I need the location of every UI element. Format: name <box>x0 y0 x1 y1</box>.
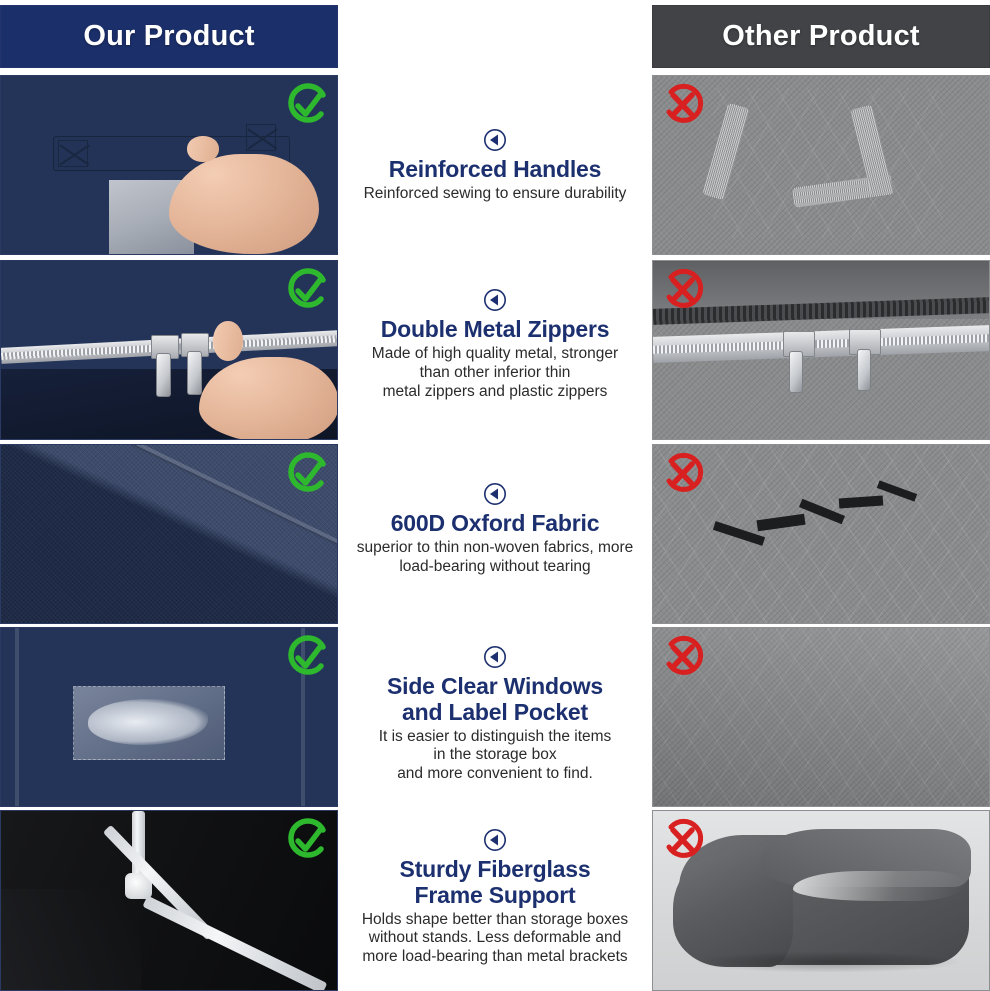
green-circle-check-icon <box>285 817 331 863</box>
feature-block-4: Side Clear Windows and Label Pocket It i… <box>345 645 645 784</box>
feature-title: Side Clear Windows and Label Pocket <box>345 674 645 726</box>
ours-image-window-pocket <box>0 627 338 807</box>
feature-title: Double Metal Zippers <box>345 317 645 343</box>
pocket-reflection <box>88 699 208 745</box>
no-badge <box>659 451 705 497</box>
no-badge <box>659 817 705 863</box>
no-badge <box>659 634 705 680</box>
feature-desc-line: more load-bearing than metal brackets <box>345 948 645 967</box>
other-image-handles <box>652 75 990 255</box>
circle-left-triangle-icon <box>483 828 507 852</box>
circle-left-triangle-icon <box>483 645 507 669</box>
circle-left-triangle-icon <box>483 288 507 312</box>
other-image-collapsed-bag <box>652 810 990 991</box>
ok-badge <box>285 817 331 863</box>
feature-title-line: and Label Pocket <box>402 699 588 725</box>
green-circle-check-icon <box>285 451 331 497</box>
ok-badge <box>285 82 331 128</box>
green-circle-check-icon <box>285 267 331 313</box>
drop-shadow <box>693 951 963 973</box>
left-wall <box>1 889 141 991</box>
feature-title: Reinforced Handles <box>345 157 645 183</box>
zipper-pull-2 <box>857 349 871 391</box>
strap-stitch-left <box>58 140 88 167</box>
red-circle-cross-icon <box>659 817 705 863</box>
feature-title-line: Sturdy Fiberglass <box>400 856 591 882</box>
vertical-seam-left <box>15 628 19 807</box>
ok-badge <box>285 634 331 680</box>
strap-stitch-right <box>246 124 276 151</box>
other-image-no-window <box>652 627 990 807</box>
feature-desc-line: Holds shape better than storage boxes <box>345 911 645 930</box>
feature-desc-line: in the storage box <box>345 746 645 765</box>
feature-desc-line: metal zippers and plastic zippers <box>345 383 645 402</box>
feature-block-2: Double Metal Zippers Made of high qualit… <box>345 288 645 401</box>
feature-title-line: Frame Support <box>415 882 576 908</box>
comparison-infographic: Our Product Other Product <box>0 0 990 991</box>
ok-badge <box>285 451 331 497</box>
feature-desc-line: without stands. Less deformable and <box>345 929 645 948</box>
ours-image-zippers <box>0 260 338 440</box>
our-product-header-label: Our Product <box>83 20 254 53</box>
feature-desc-line: than other inferior thin <box>345 364 645 383</box>
finger-tip <box>213 321 243 361</box>
green-circle-check-icon <box>285 634 331 680</box>
no-badge <box>659 267 705 313</box>
feature-desc-line: Made of high quality metal, stronger <box>345 345 645 364</box>
circle-left-triangle-icon <box>483 128 507 152</box>
feature-title: Sturdy Fiberglass Frame Support <box>345 857 645 909</box>
feature-block-5: Sturdy Fiberglass Frame Support Holds sh… <box>345 828 645 967</box>
feature-desc-line: and more convenient to find. <box>345 765 645 784</box>
label-pocket <box>73 686 225 760</box>
red-circle-cross-icon <box>659 82 705 128</box>
circle-left-triangle-icon <box>483 482 507 506</box>
other-image-fabric <box>652 444 990 624</box>
our-product-header: Our Product <box>0 5 338 68</box>
hand <box>169 154 319 254</box>
red-circle-cross-icon <box>659 451 705 497</box>
feature-desc-line: It is easier to distinguish the items <box>345 728 645 747</box>
zipper-pull-1 <box>789 351 803 393</box>
feature-title-line: Side Clear Windows <box>387 673 603 699</box>
other-product-header-label: Other Product <box>722 20 920 53</box>
ours-image-fabric <box>0 444 338 624</box>
ours-image-frame <box>0 810 338 991</box>
ok-badge <box>285 267 331 313</box>
red-circle-cross-icon <box>659 634 705 680</box>
red-circle-cross-icon <box>659 267 705 313</box>
feature-desc-line: Reinforced sewing to ensure durability <box>345 185 645 204</box>
feature-desc-line: load-bearing without tearing <box>345 558 645 577</box>
other-product-header: Other Product <box>652 5 990 68</box>
feature-title: 600D Oxford Fabric <box>345 511 645 537</box>
zipper-pull-2 <box>187 351 202 395</box>
other-image-zippers <box>652 260 990 440</box>
finger-tip <box>187 136 219 162</box>
zipper-pull-1 <box>156 353 171 397</box>
plastic-sheen <box>793 871 963 901</box>
no-badge <box>659 82 705 128</box>
feature-block-3: 600D Oxford Fabric superior to thin non-… <box>345 482 645 577</box>
feature-block-1: Reinforced Handles Reinforced sewing to … <box>345 128 645 204</box>
green-circle-check-icon <box>285 82 331 128</box>
ours-image-handles <box>0 75 338 255</box>
feature-desc-line: superior to thin non-woven fabrics, more <box>345 539 645 558</box>
